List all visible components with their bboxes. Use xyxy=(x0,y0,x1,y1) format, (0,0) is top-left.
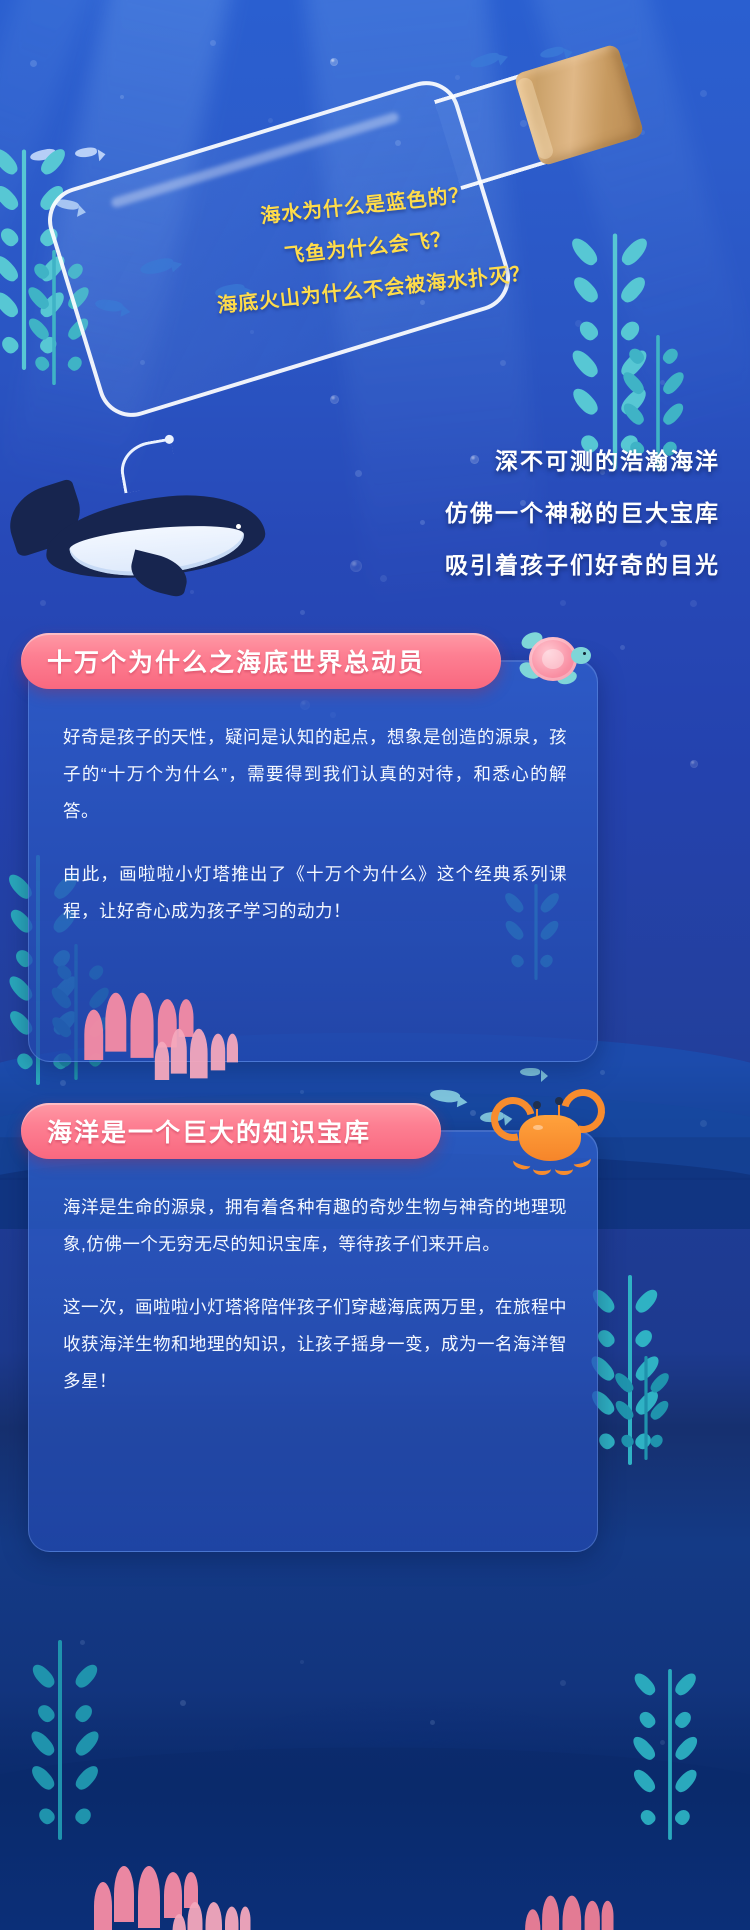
card2-title: 海洋是一个巨大的知识宝库 xyxy=(21,1113,371,1149)
seaweed-leaf xyxy=(661,369,688,397)
seaweed-leaf xyxy=(633,1327,655,1350)
coral-branch xyxy=(105,993,126,1052)
card2-paragraph-2: 这一次，画啦啦小灯塔将陪伴孩子们穿越海底两万里，在旅程中收获海洋生物和地理的知识… xyxy=(63,1289,567,1400)
seaweed-stem xyxy=(668,1669,672,1840)
card1-title: 十万个为什么之海底世界总动员 xyxy=(21,643,425,679)
seaweed-leaf xyxy=(633,1287,661,1316)
coral-branch xyxy=(542,1896,559,1930)
coral-branch xyxy=(94,1882,112,1930)
bubble-icon xyxy=(180,1700,186,1706)
whale-icon xyxy=(10,470,300,620)
crab-leg xyxy=(572,1153,593,1170)
seaweed-leaf xyxy=(661,400,687,427)
seaweed-leaf xyxy=(673,1767,701,1796)
seaweed-leaf xyxy=(0,252,21,284)
seaweed-icon xyxy=(642,1669,699,1840)
bubble-icon xyxy=(700,1120,707,1127)
coral-branch xyxy=(190,1029,208,1079)
hero-questions: 海水为什么是蓝色的？ 飞鱼为什么会飞？ 海底火山为什么不会被海水扑灭？ xyxy=(45,185,685,311)
bubble-icon xyxy=(700,90,707,97)
bubble-icon xyxy=(300,1090,304,1094)
seaweed-leaf xyxy=(673,1734,701,1763)
card1-title-banner: 十万个为什么之海底世界总动员 xyxy=(21,633,501,689)
bubble-icon xyxy=(330,395,339,404)
seaweed-icon xyxy=(622,1356,670,1460)
seaweed-leaf xyxy=(28,1728,58,1759)
bubble-icon xyxy=(300,1660,304,1664)
coral-branch xyxy=(227,1034,238,1063)
seaweed-stem xyxy=(22,150,26,370)
card1-paragraph-1: 好奇是孩子的天性，疑问是认知的起点，想象是创造的源泉，孩子的“十万个为什么”，需… xyxy=(63,719,567,830)
bubble-icon xyxy=(430,1720,435,1725)
coral-branch xyxy=(171,1029,187,1074)
coral-branch xyxy=(188,1902,203,1930)
seaweed-leaf xyxy=(673,1709,694,1731)
seaweed-icon xyxy=(30,1640,90,1840)
crab-body xyxy=(519,1115,581,1161)
coral-branch xyxy=(240,1907,251,1930)
coral-branch xyxy=(206,1902,223,1930)
turtle-icon xyxy=(513,627,591,693)
seaweed-stem xyxy=(58,1640,62,1840)
message-bottle-illustration: 海水为什么是蓝色的？ 飞鱼为什么会飞？ 海底火山为什么不会被海水扑灭？ xyxy=(45,35,645,375)
coral-branch xyxy=(138,1866,160,1928)
crab-leg xyxy=(555,1163,573,1175)
turtle-head xyxy=(571,647,591,664)
fish-body xyxy=(520,1068,540,1076)
seaweed-leaf xyxy=(0,183,21,214)
seaweed-leaf xyxy=(0,334,21,356)
coral-branch xyxy=(211,1034,225,1071)
seaweed-leaf xyxy=(619,1432,636,1449)
coral-branch xyxy=(114,1866,134,1922)
coral-branch xyxy=(563,1896,582,1930)
seaweed-leaf xyxy=(0,289,21,321)
seaweed-leaf xyxy=(36,1805,57,1826)
coral-icon xyxy=(520,1891,614,1930)
seaweed-leaf xyxy=(673,1670,700,1698)
card2-paragraph-1: 海洋是生命的源泉，拥有着各种有趣的奇妙生物与神奇的地理现象,仿佛一个无穷无尽的知… xyxy=(63,1189,567,1263)
fish-tail xyxy=(457,1095,468,1108)
bubble-icon xyxy=(690,760,698,768)
seaweed-leaf xyxy=(0,225,21,249)
crab-leg xyxy=(512,1155,533,1172)
crab-eye xyxy=(555,1097,563,1105)
seaweed-leaf xyxy=(673,1807,693,1827)
fish-tail xyxy=(541,1070,548,1082)
card1-paragraph-2: 由此，画啦啦小灯塔推出了《十万个为什么》这个经典系列课程，让好奇心成为孩子学习的… xyxy=(63,856,567,930)
card2-body: 海洋是生命的源泉，拥有着各种有趣的奇妙生物与神奇的地理现象,仿佛一个无穷无尽的知… xyxy=(63,1189,567,1426)
card1-body: 好奇是孩子的天性，疑问是认知的起点，想象是创造的源泉，孩子的“十万个为什么”，需… xyxy=(63,719,567,956)
crab-eye xyxy=(533,1101,541,1109)
seaweed-leaf xyxy=(648,1398,671,1422)
intro-line-2: 仿佛一个神秘的巨大宝库 xyxy=(320,487,720,539)
bubble-icon xyxy=(470,1110,476,1116)
bubble-icon xyxy=(300,610,305,615)
coral-branch xyxy=(84,1010,103,1060)
turtle-shell xyxy=(529,637,577,681)
fish-icon xyxy=(520,1068,540,1076)
bubble-icon xyxy=(30,60,37,67)
whale-eye xyxy=(236,524,241,529)
page-root: 海水为什么是蓝色的？ 飞鱼为什么会飞？ 海底火山为什么不会被海水扑灭？ 深不可测… xyxy=(0,0,750,1930)
coral-icon xyxy=(168,1898,251,1930)
seaweed-stem xyxy=(644,1356,647,1460)
seaweed-leaf xyxy=(35,1702,57,1725)
bubble-icon xyxy=(560,1680,566,1686)
coral-branch xyxy=(173,1914,187,1930)
bubble-icon xyxy=(560,600,566,606)
card-ocean-treasure: 海洋是一个巨大的知识宝库 海洋是生命的源泉，拥有着各种有趣的奇妙生物与神奇的地理… xyxy=(28,1130,598,1552)
seaweed-leaf xyxy=(0,145,21,178)
coral-branch xyxy=(602,1901,614,1930)
seaweed-leaf xyxy=(661,346,681,366)
coral-branch xyxy=(525,1909,540,1930)
card2-title-banner: 海洋是一个巨大的知识宝库 xyxy=(21,1103,441,1159)
seaweed-leaf xyxy=(596,1430,617,1451)
bubble-icon xyxy=(690,600,697,607)
seaweed-leaf xyxy=(29,1662,57,1691)
bubble-icon xyxy=(600,1070,605,1075)
intro-line-3: 吸引着孩子们好奇的目光 xyxy=(320,539,720,591)
seaweed-leaf xyxy=(648,1370,672,1395)
coral-branch xyxy=(585,1901,600,1930)
intro-line-1: 深不可测的浩瀚海洋 xyxy=(320,435,720,487)
coral-branch xyxy=(225,1907,239,1930)
coral-branch xyxy=(155,1042,169,1080)
seaweed-leaf xyxy=(648,1432,665,1449)
bubble-icon xyxy=(620,645,625,650)
crab-icon xyxy=(493,1085,603,1181)
seaweed-leaf xyxy=(28,1763,57,1793)
seaweed-leaf xyxy=(638,1807,658,1827)
intro-text-block: 深不可测的浩瀚海洋 仿佛一个神秘的巨大宝库 吸引着孩子们好奇的目光 xyxy=(320,435,720,591)
crab-leg xyxy=(533,1163,551,1175)
coral-icon xyxy=(150,1024,238,1080)
